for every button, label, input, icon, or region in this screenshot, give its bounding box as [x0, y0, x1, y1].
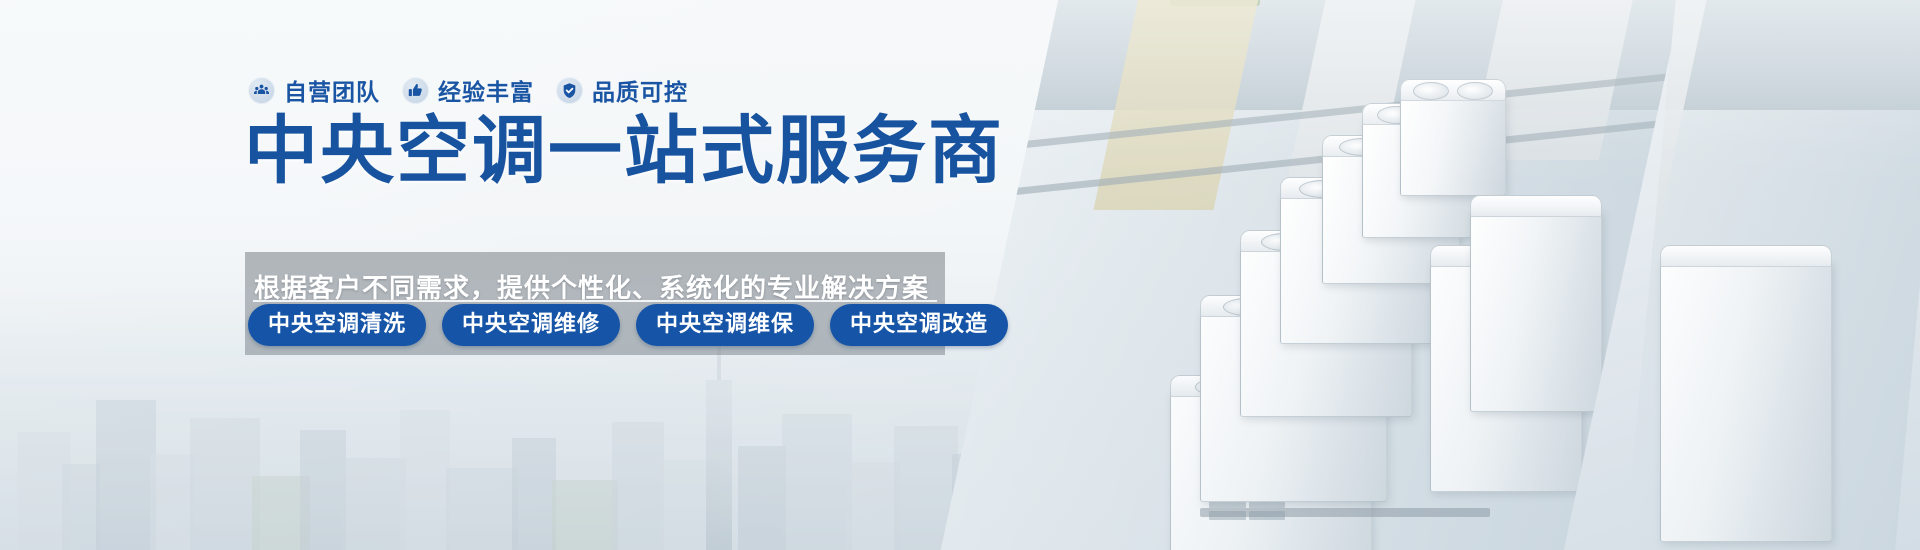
photo-slab-edge	[1620, 0, 1920, 550]
page-title: 中央空调一站式服务商	[244, 112, 1004, 190]
team-icon	[248, 77, 275, 104]
service-tag-cleaning[interactable]: 中央空调清洗	[248, 304, 426, 346]
feature-label: 品质可控	[592, 73, 688, 107]
photo-content	[930, 0, 1690, 550]
photo-fog-overlay	[1620, 0, 1920, 550]
feature-item-quality: 品质可控	[556, 73, 688, 107]
service-tag-repair[interactable]: 中央空调维修	[442, 304, 620, 346]
service-tag-list: 中央空调清洗 中央空调维修 中央空调维保 中央空调改造	[248, 304, 1008, 346]
feature-item-experience: 经验丰富	[402, 73, 534, 107]
shield-check-icon	[556, 77, 583, 104]
hero-banner: 自营团队 经验丰富 品质可控	[0, 0, 1920, 550]
banner-content: 自营团队 经验丰富 品质可控	[0, 0, 980, 550]
feature-list: 自营团队 经验丰富 品质可控	[248, 73, 688, 107]
service-tag-retrofit[interactable]: 中央空调改造	[830, 304, 1008, 346]
photo-content-edge	[1620, 0, 1920, 550]
feature-label: 自营团队	[284, 73, 380, 107]
thumbs-up-icon	[402, 77, 429, 104]
panel-divider	[253, 300, 937, 302]
feature-item-team: 自营团队	[248, 73, 380, 107]
photo-fog-overlay	[930, 0, 1690, 550]
feature-label: 经验丰富	[438, 73, 534, 107]
rooftop-chiller-units-photo	[920, 0, 1920, 550]
photo-slab-main	[930, 0, 1690, 550]
service-tag-maintenance[interactable]: 中央空调维保	[636, 304, 814, 346]
